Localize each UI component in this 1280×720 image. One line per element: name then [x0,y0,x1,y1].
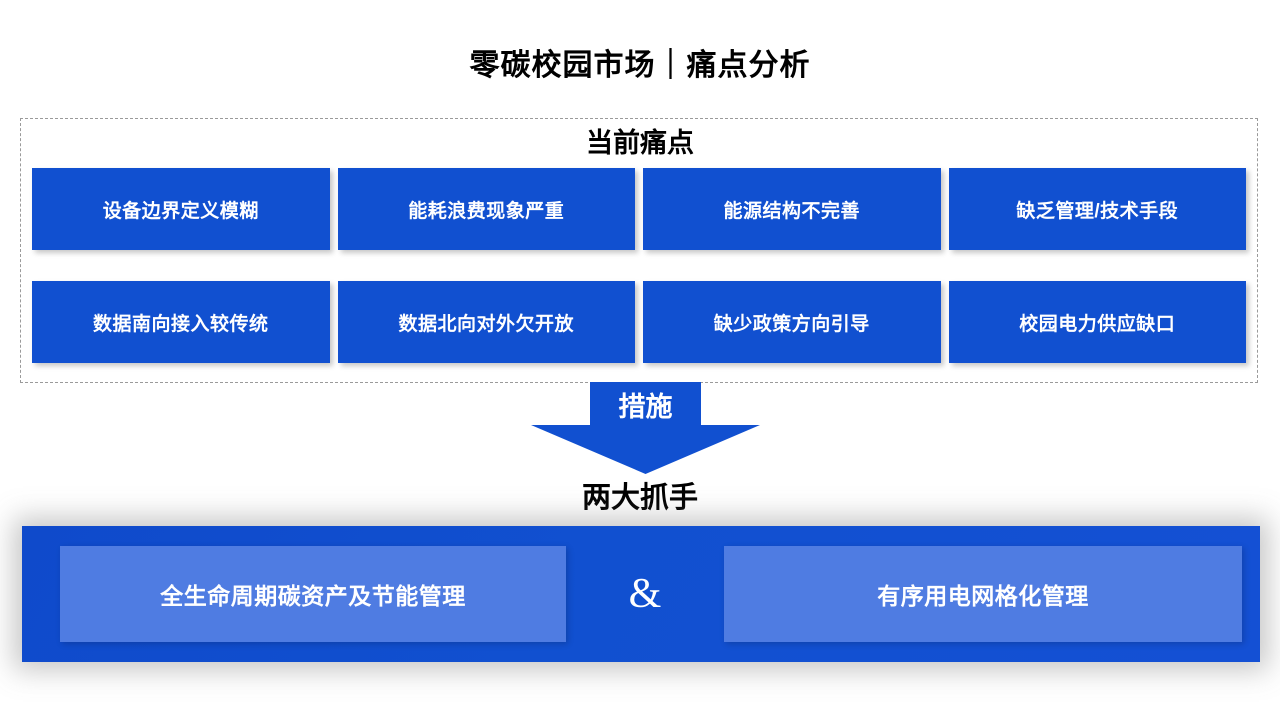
handles-separator: & [566,573,724,615]
painpoint-card[interactable]: 缺少政策方向引导 [643,281,941,363]
handle-card-lifecycle-carbon[interactable]: 全生命周期碳资产及节能管理 [60,546,566,642]
painpoint-card[interactable]: 校园电力供应缺口 [949,281,1247,363]
painpoints-row-2: 数据南向接入较传统 数据北向对外欠开放 缺少政策方向引导 校园电力供应缺口 [32,281,1246,363]
painpoint-card[interactable]: 能源结构不完善 [643,168,941,250]
handles-bar: 全生命周期碳资产及节能管理 & 有序用电网格化管理 [22,526,1260,662]
painpoint-card[interactable]: 设备边界定义模糊 [32,168,330,250]
painpoint-card[interactable]: 能耗浪费现象严重 [338,168,636,250]
handle-card-grid-power[interactable]: 有序用电网格化管理 [724,546,1242,642]
painpoints-heading: 当前痛点 [21,125,1259,161]
measures-arrow: 措施 [531,382,760,474]
painpoint-card[interactable]: 缺乏管理/技术手段 [949,168,1247,250]
painpoints-row-1: 设备边界定义模糊 能耗浪费现象严重 能源结构不完善 缺乏管理/技术手段 [32,168,1246,250]
painpoint-card[interactable]: 数据北向对外欠开放 [338,281,636,363]
handles-heading: 两大抓手 [0,478,1280,518]
painpoints-panel: 当前痛点 设备边界定义模糊 能耗浪费现象严重 能源结构不完善 缺乏管理/技术手段… [20,118,1258,383]
down-arrow-icon [531,382,760,474]
page-title: 零碳校园市场｜痛点分析 [0,46,1280,86]
painpoint-card[interactable]: 数据南向接入较传统 [32,281,330,363]
